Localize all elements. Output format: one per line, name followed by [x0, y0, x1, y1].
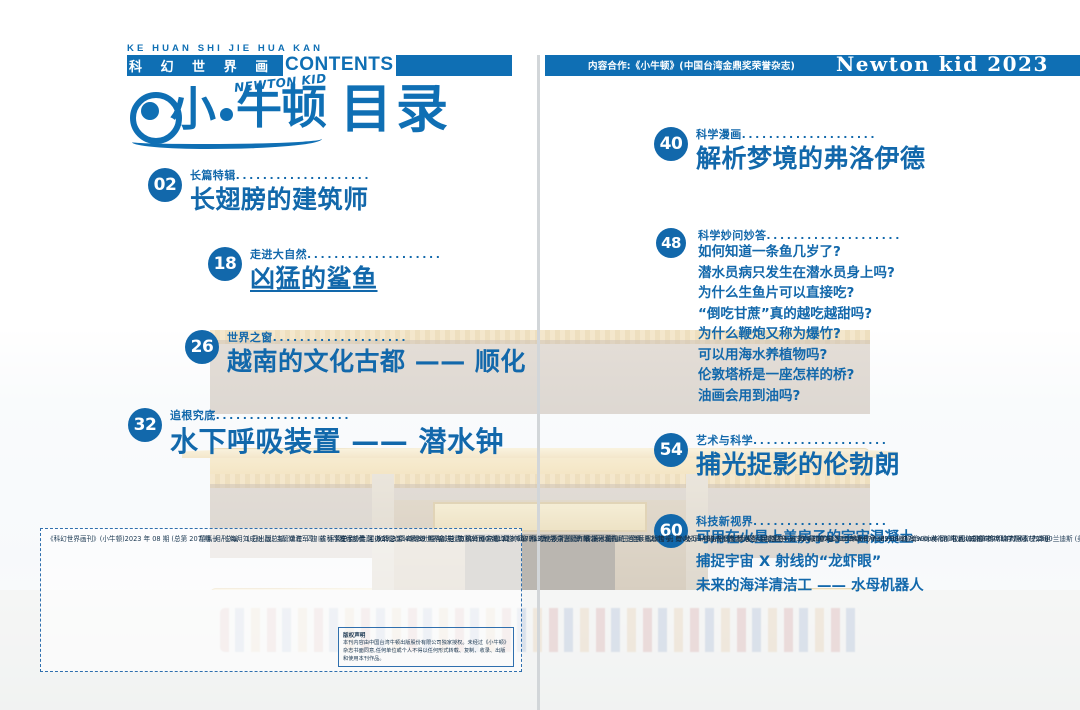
page-number-badge: 18	[208, 247, 242, 281]
page-number-badge: 26	[185, 330, 219, 364]
list-item: 为什么鞭炮又称为爆竹?	[698, 324, 895, 345]
copyright-notice-body: 本刊内容由中国台湾牛顿出版股份有限公司独家授权。未经过《小牛顿》杂志书面同意,任…	[343, 639, 509, 663]
list-item: 未来的海洋清洁工 —— 水母机器人	[696, 574, 924, 598]
header-pinyin: KE HUAN SHI JIE HUA KAN	[127, 43, 397, 54]
page-number-badge: 32	[128, 408, 162, 442]
page-spine-divider	[537, 55, 540, 710]
entry-title: 解析梦境的弗洛伊德	[696, 139, 926, 175]
page-number-badge: 54	[654, 433, 688, 467]
magazine-contents-page: KE HUAN SHI JIE HUA KAN 科 幻 世 界 画 刊 CONT…	[0, 0, 1080, 710]
list-item: 可以用海水养植物吗?	[698, 345, 895, 366]
colophon-imprint-box: 《科幻世界画刊》(小牛顿)2023 年 08 期 (总第 207 期, 月刊,每…	[40, 528, 522, 672]
header-magazine-name-cn: 科 幻 世 界 画 刊	[129, 56, 307, 75]
list-item: 为什么生鱼片可以直接吃?	[698, 283, 895, 304]
colophon-column-contact: 发行部传真:(028)85245133 邮购部电话:(028)66771328 …	[339, 534, 1049, 544]
logo-char-xiao: 小	[170, 86, 216, 132]
entry-question-list: 如何知道一条鱼几岁了? 潜水员病只发生在潜水员身上吗? 为什么生鱼片可以直接吃?…	[698, 242, 895, 406]
header-contents-label: CONTENTS	[283, 54, 396, 76]
page-title-mulu: 目录	[340, 82, 452, 139]
page-number-badge: 02	[148, 168, 182, 202]
list-item: 油画会用到油吗?	[698, 386, 895, 407]
copyright-notice-title: 版权声明	[343, 631, 509, 639]
page-number-badge: 40	[654, 127, 688, 161]
list-item: 潜水员病只发生在潜水员身上吗?	[698, 263, 895, 284]
list-item: 如何知道一条鱼几岁了?	[698, 242, 895, 263]
entry-title: 越南的文化古都 —— 顺化	[227, 342, 526, 378]
header-issue-label: Newton kid 2023 08	[836, 52, 1080, 100]
logo-swoosh-icon	[132, 132, 322, 149]
list-item: 捕捉宇宙 X 射线的“龙虾眼”	[696, 550, 924, 574]
list-item: 伦敦塔桥是一座怎样的桥?	[698, 365, 895, 386]
copyright-notice-box: 版权声明 本刊内容由中国台湾牛顿出版股份有限公司独家授权。未经过《小牛顿》杂志书…	[338, 627, 514, 667]
page-number-badge: 48	[656, 228, 686, 258]
entry-title: 长翅膀的建筑师	[190, 180, 369, 216]
logo-dot-icon	[220, 108, 233, 121]
header-cooperation-note: 内容合作:《小牛顿》(中国台湾金鼎奖荣誉杂志)	[588, 58, 795, 72]
list-item: “倒吃甘蔗”真的越吃越甜吗?	[698, 304, 895, 325]
entry-title: 水下呼吸装置 —— 潜水钟	[170, 420, 504, 460]
entry-title: 捕光捉影的伦勃朗	[696, 445, 900, 481]
entry-title: 凶猛的鲨鱼	[250, 259, 378, 295]
entry-kicker: 科学妙问妙答....................	[698, 227, 902, 243]
